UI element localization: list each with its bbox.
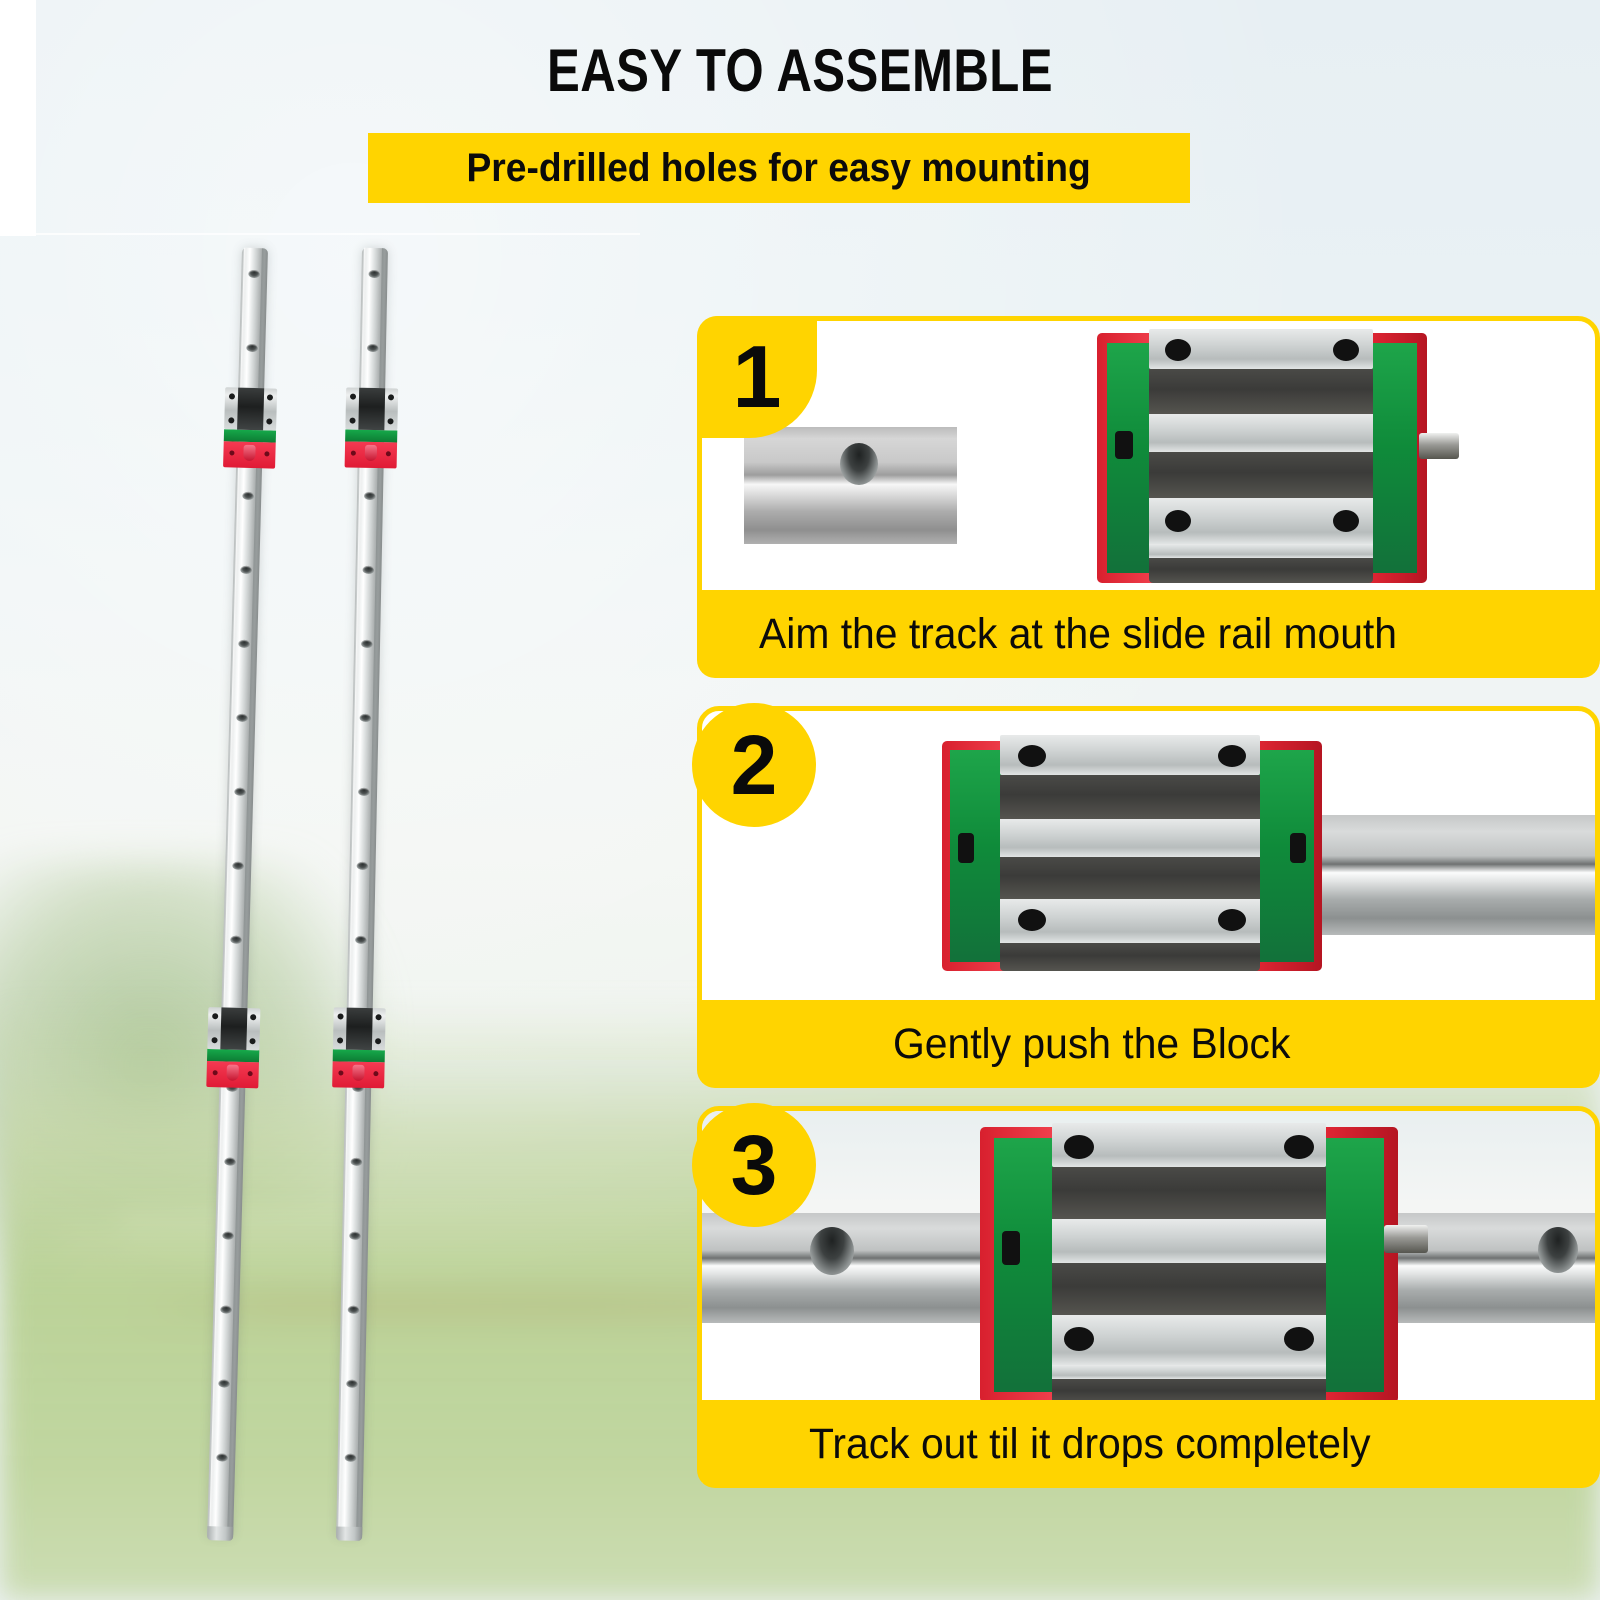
product-rails-group: [180, 248, 480, 1568]
step-number-badge-3: 3: [692, 1103, 816, 1227]
carriage-endcap-bolt: [373, 1071, 378, 1076]
carriage-bolt: [250, 1014, 256, 1020]
step-3-caption-bar: Track out til it drops completely: [697, 1400, 1600, 1488]
block-rail-slot: [1149, 544, 1373, 558]
carriage-endcap-bolt: [229, 450, 234, 455]
background-seam: [0, 233, 640, 235]
rail-mounting-hole: [220, 1305, 232, 1313]
carriage-block-lower: [332, 1007, 386, 1088]
carriage-green-seal: [345, 429, 397, 442]
carriage-bolt: [337, 1037, 343, 1043]
block-side-port: [1115, 431, 1133, 459]
carriage-bolt: [388, 394, 394, 400]
carriage-endcap-bolt: [264, 451, 269, 456]
rail-mounting-hole: [357, 862, 369, 870]
block-bolt-hole: [1333, 339, 1359, 361]
carriage-block-lower: [206, 1007, 260, 1088]
block-side-port: [1002, 1231, 1020, 1265]
carriage-bolt: [338, 1013, 344, 1019]
carriage-bolt: [350, 394, 356, 400]
block-bolt-hole: [1218, 745, 1246, 767]
block-bolt-hole: [1018, 745, 1046, 767]
block-dark-band: [1000, 775, 1260, 819]
block-dark-band: [1000, 857, 1260, 899]
carriage-dark-center: [237, 388, 264, 431]
carriage-red-endcap: [345, 441, 398, 468]
carriage-red-endcap: [223, 441, 276, 468]
rail-mounting-hole: [234, 788, 246, 796]
rail-mounting-hole: [362, 566, 374, 574]
carriage-steel-top: [345, 387, 398, 430]
block-dark-band: [1052, 1167, 1326, 1219]
rail-mounting-hole: [349, 1232, 361, 1240]
step-number-badge-2: 2: [692, 703, 816, 827]
step-number-1: 1: [733, 326, 782, 428]
rail-end-cap: [207, 1526, 233, 1541]
carriage-dark-center: [220, 1007, 247, 1050]
block-base: [1149, 558, 1373, 583]
carriage-endcap-bolt: [213, 1070, 218, 1075]
countersunk-hole: [1538, 1227, 1578, 1273]
rail-segment-image: [1287, 815, 1595, 935]
carriage-endcap-bolt: [338, 1070, 343, 1075]
carriage-steel-top: [224, 387, 277, 430]
rail-mounting-hole: [364, 492, 376, 500]
block-light-band: [1000, 819, 1260, 857]
carriage-bolt: [349, 418, 355, 424]
carriage-bolt: [229, 393, 235, 399]
block-rail-slot: [1052, 1365, 1326, 1379]
rail-mounting-hole: [345, 1454, 357, 1462]
block-light-band: [1149, 414, 1373, 452]
carriage-block-upper: [345, 387, 399, 468]
rail-mounting-hole: [236, 714, 248, 722]
block-bolt-hole: [1218, 909, 1246, 931]
carriage-bolt: [375, 1038, 381, 1044]
infographic-canvas: EASY TO ASSEMBLE Pre-drilled holes for e…: [0, 0, 1600, 1600]
carriage-red-endcap: [206, 1061, 259, 1088]
carriage-green-seal: [333, 1049, 385, 1062]
carriage-dark-center: [346, 1008, 373, 1051]
carriage-bolt: [249, 1038, 255, 1044]
block-side-port: [958, 833, 974, 863]
carriage-block-image: [1097, 333, 1427, 583]
rail-mounting-hole: [346, 1380, 358, 1388]
rail-mounting-hole: [355, 936, 367, 944]
carriage-grease-nipple: [226, 1065, 238, 1081]
step-panel-2: 2 Gently push the Block: [697, 706, 1600, 1088]
rail-mounting-hole: [359, 714, 371, 722]
rail-mounting-hole: [218, 1379, 230, 1387]
carriage-grease-nipple: [365, 445, 377, 461]
rail-mounting-hole: [358, 788, 370, 796]
rail-mounting-hole: [361, 640, 373, 648]
rail-mounting-hole: [248, 270, 260, 278]
carriage-bolt: [267, 394, 273, 400]
carriage-bolt: [211, 1037, 217, 1043]
block-side-pin: [1384, 1225, 1428, 1253]
carriage-red-endcap: [332, 1061, 385, 1088]
rail-mounting-hole: [230, 936, 242, 944]
block-dark-band: [1149, 452, 1373, 498]
subtitle-banner: Pre-drilled holes for easy mounting: [368, 133, 1190, 203]
block-bolt-hole: [1333, 510, 1359, 532]
rail-mounting-hole: [232, 862, 244, 870]
step-1-caption-bar: Aim the track at the slide rail mouth: [697, 590, 1600, 678]
rail-mounting-hole: [367, 344, 379, 352]
carriage-block-upper: [223, 387, 277, 468]
carriage-endcap-bolt: [386, 451, 391, 456]
carriage-dark-center: [358, 388, 385, 431]
block-side-pin: [1419, 433, 1459, 459]
step-panel-3: 3 Track out til it drops completely: [697, 1106, 1600, 1488]
block-dark-band: [1052, 1263, 1326, 1315]
block-side-port: [1290, 833, 1306, 863]
page-title: EASY TO ASSEMBLE: [144, 36, 1456, 105]
carriage-steel-top: [207, 1007, 260, 1050]
step-number-3: 3: [731, 1117, 778, 1214]
carriage-block-image: [942, 741, 1322, 971]
carriage-grease-nipple: [243, 445, 255, 461]
rail-mounting-hole: [242, 492, 254, 500]
countersunk-hole: [810, 1227, 854, 1275]
step-3-caption-text: Track out til it drops completely: [809, 1420, 1371, 1469]
block-bolt-hole: [1284, 1327, 1314, 1351]
carriage-bolt: [228, 417, 234, 423]
rail-mounting-hole: [368, 270, 380, 278]
block-bolt-hole: [1165, 510, 1191, 532]
step-number-2: 2: [731, 717, 778, 814]
subtitle-text: Pre-drilled holes for easy mounting: [467, 146, 1091, 191]
countersunk-hole: [840, 443, 878, 485]
guide-rail-left: [207, 248, 268, 1538]
rail-mounting-hole: [351, 1158, 363, 1166]
guide-rail-right: [336, 248, 388, 1538]
rail-hole-closeup-image: [744, 427, 957, 544]
carriage-bolt: [266, 418, 272, 424]
rail-mounting-hole: [222, 1231, 234, 1239]
rail-mounting-hole: [348, 1306, 360, 1314]
block-base: [1000, 943, 1260, 971]
block-bolt-hole: [1018, 909, 1046, 931]
carriage-steel-top: [333, 1007, 386, 1050]
step-2-caption-text: Gently push the Block: [893, 1020, 1290, 1069]
block-light-band: [1052, 1219, 1326, 1263]
step-1-caption-text: Aim the track at the slide rail mouth: [759, 610, 1397, 659]
carriage-bolt: [387, 418, 393, 424]
step-2-caption-bar: Gently push the Block: [697, 1000, 1600, 1088]
carriage-grease-nipple: [352, 1065, 364, 1081]
carriage-endcap-bolt: [248, 1071, 253, 1076]
rail-mounting-hole: [240, 566, 252, 574]
carriage-block-image: [980, 1127, 1398, 1403]
carriage-endcap-bolt: [351, 451, 356, 456]
block-bolt-hole: [1165, 339, 1191, 361]
block-bolt-hole: [1064, 1327, 1094, 1351]
block-bolt-hole: [1284, 1135, 1314, 1159]
block-dark-band: [1149, 369, 1373, 414]
step-panel-1: 1 Aim the track at the slide rail mouth: [697, 316, 1600, 678]
carriage-bolt: [376, 1014, 382, 1020]
rail-mounting-hole: [216, 1453, 228, 1461]
background-white-corner: [0, 0, 36, 236]
rail-end-cap: [336, 1526, 362, 1541]
block-bolt-hole: [1064, 1135, 1094, 1159]
carriage-bolt: [212, 1013, 218, 1019]
